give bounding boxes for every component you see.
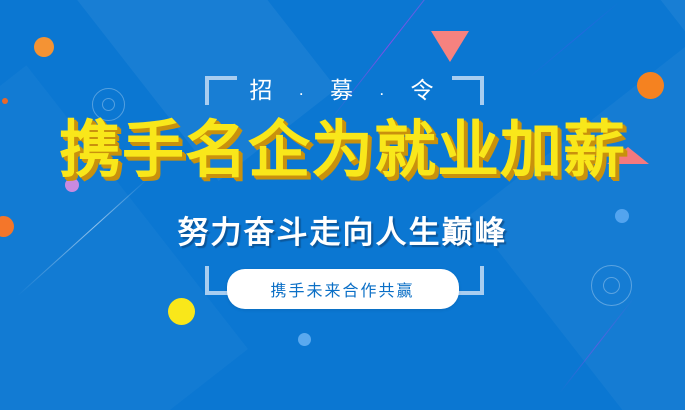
lightblue-dot-bottom (298, 333, 311, 346)
eyebrow-separator-1: . (285, 80, 320, 100)
diagonal-light-band-bottom-right (470, 0, 685, 410)
eyebrow-char-1: 招 (247, 71, 276, 105)
ring-bottom-right (591, 265, 632, 306)
blue-streak-line (528, 1, 621, 79)
purple-streak-line-bottom-right (560, 298, 635, 393)
eyebrow-separator-2: . (365, 80, 400, 100)
yellow-dot-bottom-left (168, 298, 195, 325)
eyebrow-char-2: 募 (328, 71, 357, 105)
headline-text: 携手名企为就业加薪 (0, 120, 685, 182)
orange-dot-top-left (34, 37, 54, 57)
subheadline-text: 努力奋斗走向人生巅峰 (0, 207, 685, 252)
pink-triangle-down-icon (431, 31, 469, 62)
cta-button[interactable]: 携手未来合作共赢 (226, 269, 458, 309)
promo-banner: 招 . 募 . 令 携手名企为就业加薪 努力奋斗走向人生巅峰 携手未来合作共赢 (0, 0, 685, 410)
diagonal-light-band-top-right (520, 0, 685, 135)
eyebrow-char-3: 令 (409, 71, 438, 105)
eyebrow-text: 招 . 募 . 令 (0, 71, 685, 105)
